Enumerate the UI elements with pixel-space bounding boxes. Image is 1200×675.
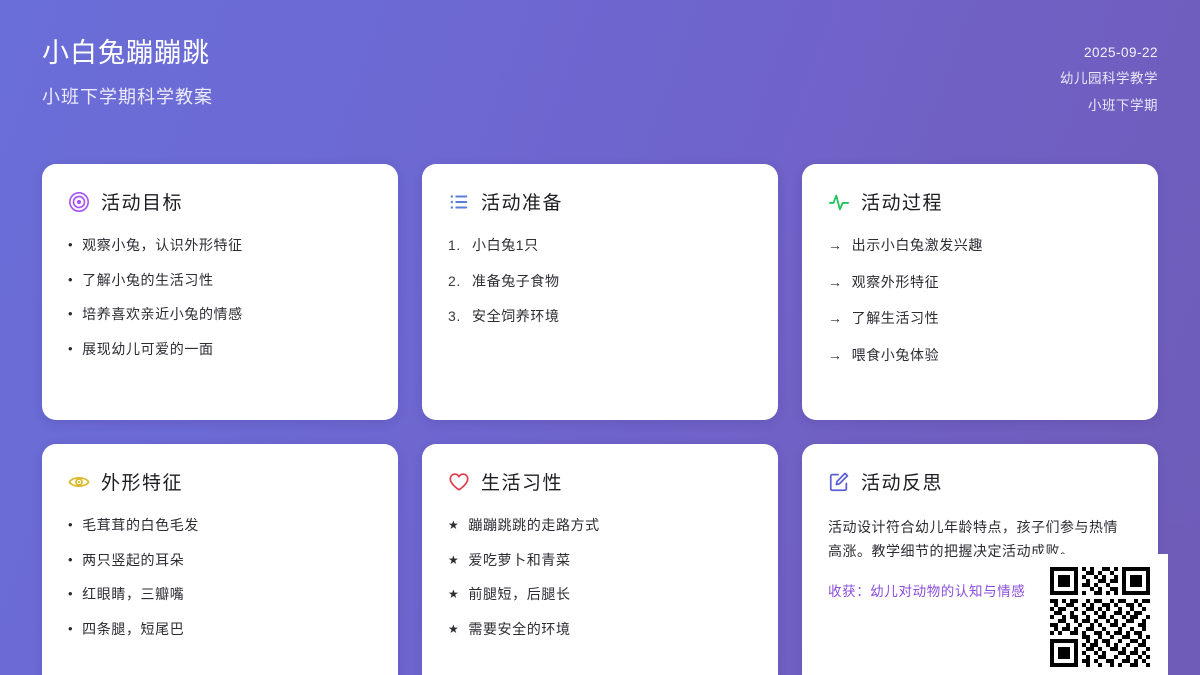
- qr-panel: [1032, 554, 1168, 675]
- list-item-text: 小白兔1只: [472, 235, 539, 257]
- arrow-marker: →: [828, 235, 843, 257]
- list-item: →喂食小兔体验: [828, 345, 1132, 367]
- card-header: 生活习性: [448, 468, 752, 495]
- list-item-text: 需要安全的环境: [468, 619, 570, 641]
- header-left: 小白兔蹦蹦跳 小班下学期科学教案: [42, 36, 213, 109]
- objectives-list: •观察小兔，认识外形特征 •了解小兔的生活习性 •培养喜欢亲近小兔的情感 •展现…: [68, 235, 372, 361]
- list-item-text: 展现幼儿可爱的一面: [82, 339, 213, 361]
- star-marker: ★: [448, 584, 459, 606]
- bullet-marker: •: [68, 304, 73, 326]
- card-objectives: 活动目标 •观察小兔，认识外形特征 •了解小兔的生活习性 •培养喜欢亲近小兔的情…: [42, 164, 398, 420]
- page-header: 小白兔蹦蹦跳 小班下学期科学教案 2025-09-22 幼儿园科学教学 小班下学…: [0, 0, 1200, 150]
- card-grid: 活动目标 •观察小兔，认识外形特征 •了解小兔的生活习性 •培养喜欢亲近小兔的情…: [42, 164, 1158, 675]
- list-item: •两只竖起的耳朵: [68, 550, 372, 572]
- qr-accent-strip: [1168, 522, 1200, 675]
- number-marker: 1.: [448, 235, 463, 257]
- list-item: ★前腿短，后腿长: [448, 584, 752, 606]
- number-marker: 3.: [448, 306, 463, 328]
- list-item: →出示小白兔激发兴趣: [828, 235, 1132, 257]
- list-item: ★爱吃萝卜和青菜: [448, 550, 752, 572]
- card-title: 活动目标: [101, 188, 183, 215]
- arrow-marker: →: [828, 272, 843, 294]
- list-item: •四条腿，短尾巴: [68, 619, 372, 641]
- arrow-marker: →: [828, 345, 843, 367]
- card-header: 外形特征: [68, 468, 372, 495]
- list-item-text: 爱吃萝卜和青菜: [468, 550, 570, 572]
- card-habits: 生活习性 ★蹦蹦跳跳的走路方式 ★爱吃萝卜和青菜 ★前腿短，后腿长 ★需要安全的…: [422, 444, 778, 675]
- appearance-list: •毛茸茸的白色毛发 •两只竖起的耳朵 •红眼睛，三瓣嘴 •四条腿，短尾巴: [68, 515, 372, 641]
- eye-icon: [68, 471, 90, 493]
- list-item: →了解生活习性: [828, 308, 1132, 330]
- list-item: •毛茸茸的白色毛发: [68, 515, 372, 537]
- card-title: 活动准备: [481, 188, 563, 215]
- number-marker: 2.: [448, 271, 463, 293]
- bullet-marker: •: [68, 584, 73, 606]
- header-date: 2025-09-22: [1060, 40, 1158, 66]
- list-item: •红眼睛，三瓣嘴: [68, 584, 372, 606]
- list-item-text: 前腿短，后腿长: [468, 584, 570, 606]
- list-item: ★需要安全的环境: [448, 619, 752, 641]
- list-item-text: 了解生活习性: [852, 308, 940, 330]
- card-header: 活动反思: [828, 468, 1132, 495]
- list-item-text: 蹦蹦跳跳的走路方式: [468, 515, 599, 537]
- star-marker: ★: [448, 550, 459, 572]
- list-item: •展现幼儿可爱的一面: [68, 339, 372, 361]
- list-item: •观察小兔，认识外形特征: [68, 235, 372, 257]
- list-item: ★蹦蹦跳跳的走路方式: [448, 515, 752, 537]
- card-process: 活动过程 →出示小白兔激发兴趣 →观察外形特征 →了解生活习性 →喂食小兔体验: [802, 164, 1158, 420]
- list-item-text: 观察外形特征: [852, 272, 940, 294]
- list-item-text: 四条腿，短尾巴: [82, 619, 184, 641]
- list-item-text: 两只竖起的耳朵: [82, 550, 184, 572]
- list-item: •了解小兔的生活习性: [68, 270, 372, 292]
- list-item-text: 出示小白兔激发兴趣: [852, 235, 983, 257]
- card-appearance: 外形特征 •毛茸茸的白色毛发 •两只竖起的耳朵 •红眼睛，三瓣嘴 •四条腿，短尾…: [42, 444, 398, 675]
- header-category: 幼儿园科学教学: [1060, 66, 1158, 92]
- card-title: 外形特征: [101, 468, 183, 495]
- pulse-icon: [828, 191, 850, 213]
- header-meta: 2025-09-22 幼儿园科学教学 小班下学期: [1060, 40, 1158, 119]
- bullet-marker: •: [68, 619, 73, 641]
- bullet-marker: •: [68, 270, 73, 292]
- list-item-text: 喂食小兔体验: [852, 345, 940, 367]
- target-icon: [68, 191, 90, 213]
- preparation-list: 1.小白兔1只 2.准备兔子食物 3.安全饲养环境: [448, 235, 752, 328]
- list-item-text: 红眼睛，三瓣嘴: [82, 584, 184, 606]
- card-header: 活动准备: [448, 188, 752, 215]
- qr-code[interactable]: [1050, 567, 1150, 667]
- list-item: 1.小白兔1只: [448, 235, 752, 257]
- card-title: 活动过程: [861, 188, 943, 215]
- list-item-text: 观察小兔，认识外形特征: [82, 235, 243, 257]
- bullet-marker: •: [68, 339, 73, 361]
- list-item-text: 毛茸茸的白色毛发: [82, 515, 199, 537]
- page-subtitle: 小班下学期科学教案: [42, 83, 213, 109]
- star-marker: ★: [448, 515, 459, 537]
- bullet-marker: •: [68, 515, 73, 537]
- heart-icon: [448, 471, 470, 493]
- edit-icon: [828, 471, 850, 493]
- list-item: →观察外形特征: [828, 272, 1132, 294]
- habits-list: ★蹦蹦跳跳的走路方式 ★爱吃萝卜和青菜 ★前腿短，后腿长 ★需要安全的环境: [448, 515, 752, 641]
- list-item-text: 安全饲养环境: [472, 306, 560, 328]
- card-header: 活动目标: [68, 188, 372, 215]
- list-item: 2.准备兔子食物: [448, 271, 752, 293]
- header-term: 小班下学期: [1060, 93, 1158, 119]
- page-title: 小白兔蹦蹦跳: [42, 36, 213, 71]
- list-item-text: 了解小兔的生活习性: [82, 270, 213, 292]
- star-marker: ★: [448, 619, 459, 641]
- card-header: 活动过程: [828, 188, 1132, 215]
- bullet-marker: •: [68, 235, 73, 257]
- bullet-marker: •: [68, 550, 73, 572]
- list-item: 3.安全饲养环境: [448, 306, 752, 328]
- list-icon: [448, 191, 470, 213]
- list-item: •培养喜欢亲近小兔的情感: [68, 304, 372, 326]
- card-title: 活动反思: [861, 468, 943, 495]
- list-item-text: 培养喜欢亲近小兔的情感: [82, 304, 243, 326]
- list-item-text: 准备兔子食物: [472, 271, 560, 293]
- card-title: 生活习性: [481, 468, 563, 495]
- card-preparation: 活动准备 1.小白兔1只 2.准备兔子食物 3.安全饲养环境: [422, 164, 778, 420]
- arrow-marker: →: [828, 308, 843, 330]
- process-list: →出示小白兔激发兴趣 →观察外形特征 →了解生活习性 →喂食小兔体验: [828, 235, 1132, 367]
